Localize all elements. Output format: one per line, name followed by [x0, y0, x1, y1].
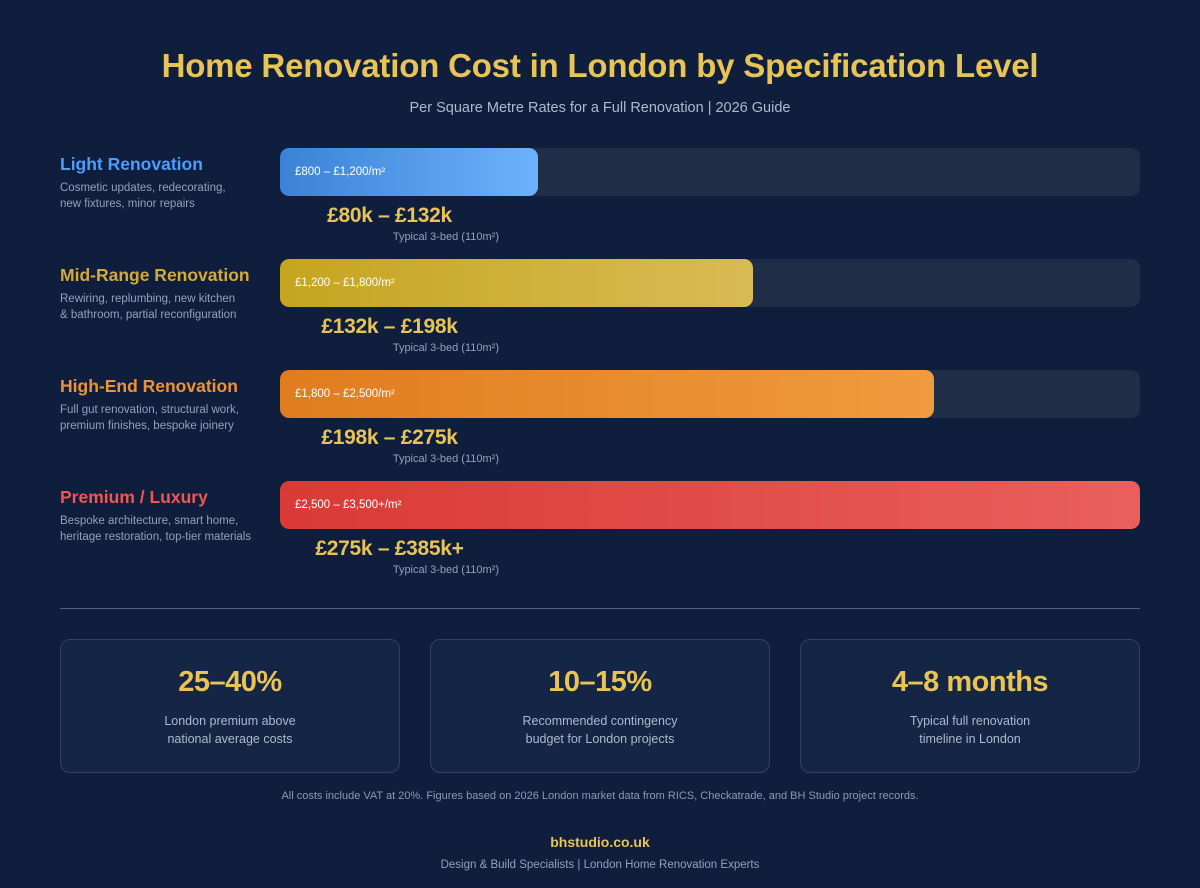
stat-description: Recommended contingencybudget for London… [447, 713, 753, 749]
stat-description: Typical full renovationtimeline in Londo… [817, 713, 1123, 749]
bar-rate-label: £1,200 – £1,800/m² [280, 277, 395, 289]
tier-description-line1: Rewiring, replumbing, new kitchen [60, 293, 235, 305]
tier-name: High-End Renovation [60, 376, 275, 398]
section-divider [60, 608, 1140, 609]
tier-total-cost: £132k – £198k [280, 314, 499, 339]
tier-typical-label: Typical 3-bed (110m²) [280, 231, 499, 243]
tier-row: Mid-Range RenovationRewiring, replumbing… [60, 259, 1140, 370]
tier-typical-label: Typical 3-bed (110m²) [280, 342, 499, 354]
tier-total-block: £132k – £198kTypical 3-bed (110m²) [280, 314, 499, 354]
tier-name: Mid-Range Renovation [60, 265, 275, 287]
bar-fill: £1,200 – £1,800/m² [280, 259, 753, 307]
tier-description: Rewiring, replumbing, new kitchen& bathr… [60, 292, 275, 323]
tier-total-block: £275k – £385k+Typical 3-bed (110m²) [280, 536, 499, 576]
stat-description: London premium abovenational average cos… [77, 713, 383, 749]
stat-card: 25–40%London premium abovenational avera… [60, 639, 400, 774]
footer: bhstudio.co.uk Design & Build Specialist… [0, 834, 1200, 871]
tier-description: Bespoke architecture, smart home,heritag… [60, 514, 275, 545]
header: Home Renovation Cost in London by Specif… [0, 0, 1200, 116]
tier-chart: £1,800 – £2,500/m²£198k – £275kTypical 3… [280, 370, 1140, 465]
tier-description-line2: premium finishes, bespoke joinery [60, 420, 234, 432]
stat-value: 25–40% [77, 666, 383, 699]
tier-row: High-End RenovationFull gut renovation, … [60, 370, 1140, 481]
footer-brand-link[interactable]: bhstudio.co.uk [0, 834, 1200, 850]
stat-card: 10–15%Recommended contingencybudget for … [430, 639, 770, 774]
tier-description: Cosmetic updates, redecorating,new fixtu… [60, 181, 275, 212]
tier-row: Light RenovationCosmetic updates, redeco… [60, 148, 1140, 259]
page-subtitle: Per Square Metre Rates for a Full Renova… [0, 100, 1200, 116]
bar-rate-label: £1,800 – £2,500/m² [280, 388, 395, 400]
bar-track: £1,200 – £1,800/m² [280, 259, 1140, 307]
tier-chart: £1,200 – £1,800/m²£132k – £198kTypical 3… [280, 259, 1140, 354]
stat-description-line2: timeline in London [919, 732, 1020, 746]
page-title: Home Renovation Cost in London by Specif… [0, 46, 1200, 86]
bar-fill: £800 – £1,200/m² [280, 148, 538, 196]
footnote: All costs include VAT at 20%. Figures ba… [0, 790, 1200, 802]
stat-card-list: 25–40%London premium abovenational avera… [0, 639, 1200, 774]
bar-rate-label: £800 – £1,200/m² [280, 166, 385, 178]
bar-fill: £2,500 – £3,500+/m² [280, 481, 1140, 529]
stat-description-line2: budget for London projects [526, 732, 675, 746]
infographic-page: Home Renovation Cost in London by Specif… [0, 0, 1200, 888]
tier-description-line2: & bathroom, partial reconfiguration [60, 309, 236, 321]
tier-typical-label: Typical 3-bed (110m²) [280, 564, 499, 576]
tier-chart: £800 – £1,200/m²£80k – £132kTypical 3-be… [280, 148, 1140, 243]
tier-name: Light Renovation [60, 154, 275, 176]
tier-list: Light RenovationCosmetic updates, redeco… [0, 148, 1200, 592]
stat-description-line1: Typical full renovation [910, 714, 1030, 728]
tier-description-line1: Bespoke architecture, smart home, [60, 515, 238, 527]
stat-card: 4–8 monthsTypical full renovationtimelin… [800, 639, 1140, 774]
tier-description-line1: Cosmetic updates, redecorating, [60, 182, 226, 194]
bar-track: £1,800 – £2,500/m² [280, 370, 1140, 418]
tier-description-line1: Full gut renovation, structural work, [60, 404, 239, 416]
bar-fill: £1,800 – £2,500/m² [280, 370, 934, 418]
stat-description-line1: London premium above [164, 714, 295, 728]
tier-description-line2: new fixtures, minor repairs [60, 198, 195, 210]
tier-chart: £2,500 – £3,500+/m²£275k – £385k+Typical… [280, 481, 1140, 576]
stat-description-line1: Recommended contingency [523, 714, 678, 728]
bar-track: £800 – £1,200/m² [280, 148, 1140, 196]
tier-info: Premium / LuxuryBespoke architecture, sm… [60, 487, 275, 546]
tier-total-cost: £198k – £275k [280, 425, 499, 450]
footer-tagline: Design & Build Specialists | London Home… [0, 859, 1200, 871]
bar-rate-label: £2,500 – £3,500+/m² [280, 499, 401, 511]
tier-info: Light RenovationCosmetic updates, redeco… [60, 154, 275, 213]
tier-total-block: £80k – £132kTypical 3-bed (110m²) [280, 203, 499, 243]
tier-description-line2: heritage restoration, top-tier materials [60, 531, 251, 543]
tier-info: Mid-Range RenovationRewiring, replumbing… [60, 265, 275, 324]
stat-value: 10–15% [447, 666, 753, 699]
tier-description: Full gut renovation, structural work,pre… [60, 403, 275, 434]
tier-total-cost: £275k – £385k+ [280, 536, 499, 561]
tier-total-block: £198k – £275kTypical 3-bed (110m²) [280, 425, 499, 465]
tier-total-cost: £80k – £132k [280, 203, 499, 228]
tier-typical-label: Typical 3-bed (110m²) [280, 453, 499, 465]
stat-value: 4–8 months [817, 666, 1123, 699]
bar-track: £2,500 – £3,500+/m² [280, 481, 1140, 529]
stat-description-line2: national average costs [167, 732, 292, 746]
tier-name: Premium / Luxury [60, 487, 275, 509]
tier-info: High-End RenovationFull gut renovation, … [60, 376, 275, 435]
tier-row: Premium / LuxuryBespoke architecture, sm… [60, 481, 1140, 592]
